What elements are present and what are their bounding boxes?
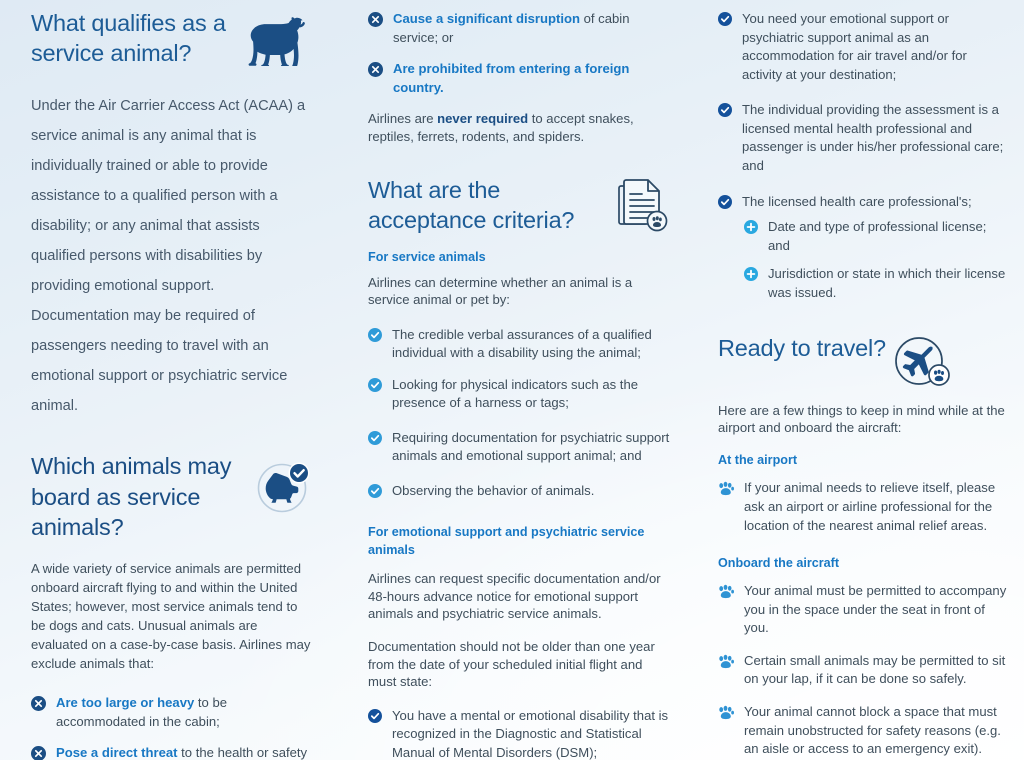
list-item: Cause a significant disruption of cabin … — [368, 10, 670, 47]
check-circle-dark-icon — [718, 103, 732, 117]
list-item: If your animal needs to relieve itself, … — [718, 479, 1010, 535]
ready-to-travel-title: Ready to travel? — [718, 333, 886, 363]
list-item: Observing the behavior of animals. — [368, 482, 670, 501]
list-item: Requiring documentation for psychiatric … — [368, 429, 670, 466]
page-title: What qualifies as a service animal? — [31, 8, 239, 69]
list-item: Certain small animals may be permitted t… — [718, 652, 1010, 689]
x-circle-icon — [31, 746, 46, 760]
subhead-for-emotional-support: For emotional support and psychiatric se… — [368, 523, 670, 560]
plus-circle-icon — [744, 220, 758, 234]
list-item: Your animal cannot block a space that mu… — [718, 703, 1010, 759]
professional-license-sub-list: Date and type of professional license; a… — [744, 218, 1010, 302]
list-item-text: Requiring documentation for psychiatric … — [392, 429, 670, 466]
list-item-text: The individual providing the assessment … — [742, 101, 1010, 175]
x-circle-icon — [31, 696, 46, 711]
ready-to-travel-heading-block: Ready to travel? — [718, 333, 1010, 390]
list-item-text: Pose a direct threat to the health or sa… — [56, 744, 313, 760]
check-circle-light-icon — [368, 378, 382, 392]
list-item-text: The licensed health care professional's; — [742, 193, 1010, 212]
which-animals-title: Which animals may board as service anima… — [31, 451, 249, 542]
airplane-paw-circle-icon — [892, 334, 956, 390]
list-item-text: Looking for physical indicators such as … — [392, 376, 670, 413]
documentation-requirements-list: You need your emotional support or psych… — [718, 10, 1010, 211]
service-animal-criteria-list: The credible verbal assurances of a qual… — [368, 326, 670, 501]
acceptance-criteria-title: What are the acceptance criteria? — [368, 175, 610, 236]
never-required-note: Airlines are never required to accept sn… — [368, 110, 670, 145]
acceptance-heading-block: What are the acceptance criteria? — [368, 175, 670, 236]
subhead-for-service-animals: For service animals — [368, 250, 670, 264]
list-item-text: If your animal needs to relieve itself, … — [744, 479, 1010, 535]
list-item: Date and type of professional license; a… — [744, 218, 1010, 255]
esa-documentation-list: You have a mental or emotional disabilit… — [368, 707, 670, 760]
paw-print-icon — [718, 481, 734, 496]
list-item-text: Your animal cannot block a space that mu… — [744, 703, 1010, 759]
list-item-text: Are prohibited from entering a foreign c… — [393, 60, 670, 97]
list-item: Are too large or heavy to be accommodate… — [31, 694, 313, 731]
ready-to-travel-intro: Here are a few things to keep in mind wh… — [718, 402, 1010, 438]
esa-paragraph-2: Documentation should not be older than o… — [368, 638, 670, 690]
infographic-page: What qualifies as a service animal? Unde… — [0, 0, 1024, 760]
list-item: You have a mental or emotional disabilit… — [368, 707, 670, 760]
check-circle-light-icon — [368, 328, 382, 342]
list-item-text: Observing the behavior of animals. — [392, 482, 670, 501]
subhead-onboard-the-aircraft: Onboard the aircraft — [718, 556, 1010, 570]
list-item: Are prohibited from entering a foreign c… — [368, 60, 670, 97]
document-paw-icon — [616, 177, 670, 233]
list-item-text: Date and type of professional license; a… — [768, 218, 1010, 255]
esa-paragraph-1: Airlines can request specific documentat… — [368, 570, 670, 622]
paw-print-icon — [718, 584, 734, 599]
paw-print-icon — [718, 654, 734, 669]
left-column: What qualifies as a service animal? Unde… — [0, 0, 355, 760]
x-circle-icon — [368, 12, 383, 27]
list-item: Your animal must be permitted to accompa… — [718, 582, 1010, 638]
list-item-text: You need your emotional support or psych… — [742, 10, 1010, 84]
list-item: Jurisdiction or state in which their lic… — [744, 265, 1010, 302]
list-item-text: Are too large or heavy to be accommodate… — [56, 694, 313, 731]
list-item-emphasis: Are prohibited from entering a foreign c… — [393, 61, 629, 95]
plus-circle-icon — [744, 267, 758, 281]
list-item: The licensed health care professional's; — [718, 193, 1010, 212]
check-circle-dark-icon — [718, 195, 732, 209]
right-column: You need your emotional support or psych… — [710, 0, 1024, 760]
service-animals-intro: Airlines can determine whether an animal… — [368, 274, 670, 309]
note-emphasis: never required — [437, 111, 528, 126]
list-item-text: Cause a significant disruption of cabin … — [393, 10, 670, 47]
list-item-emphasis: Cause a significant disruption — [393, 11, 580, 26]
list-item: Looking for physical indicators such as … — [368, 376, 670, 413]
list-item-emphasis: Are too large or heavy — [56, 695, 194, 710]
dog-silhouette-icon — [245, 14, 313, 66]
check-circle-light-icon — [368, 484, 382, 498]
check-circle-dark-icon — [718, 12, 732, 26]
exclusion-bullet-list-continued: Cause a significant disruption of cabin … — [368, 10, 670, 97]
check-circle-light-icon — [368, 431, 382, 445]
list-item: The credible verbal assurances of a qual… — [368, 326, 670, 363]
list-item-text: Certain small animals may be permitted t… — [744, 652, 1010, 689]
list-item: The individual providing the assessment … — [718, 101, 1010, 175]
onboard-tips-list: Your animal must be permitted to accompa… — [718, 582, 1010, 759]
exclusion-bullet-list-left: Are too large or heavy to be accommodate… — [31, 694, 313, 760]
subhead-at-the-airport: At the airport — [718, 453, 1010, 467]
list-item-text: Your animal must be permitted to accompa… — [744, 582, 1010, 638]
x-circle-icon — [368, 62, 383, 77]
list-item-text: You have a mental or emotional disabilit… — [392, 707, 670, 760]
list-item-text: The credible verbal assurances of a qual… — [392, 326, 670, 363]
which-animals-paragraph: A wide variety of service animals are pe… — [31, 560, 313, 674]
list-item: You need your emotional support or psych… — [718, 10, 1010, 84]
check-circle-dark-icon — [368, 709, 382, 723]
list-item: Pose a direct threat to the health or sa… — [31, 744, 313, 760]
note-pre: Airlines are — [368, 111, 437, 126]
airport-tips-list: If your animal needs to relieve itself, … — [718, 479, 1010, 535]
dog-head-check-badge-icon — [255, 457, 313, 515]
qualifies-heading-block: What qualifies as a service animal? — [31, 8, 313, 69]
list-item-emphasis: Pose a direct threat — [56, 745, 178, 760]
middle-column: Cause a significant disruption of cabin … — [355, 0, 710, 760]
which-animals-heading-block: Which animals may board as service anima… — [31, 451, 313, 542]
list-item-text: Jurisdiction or state in which their lic… — [768, 265, 1010, 302]
qualifies-paragraph: Under the Air Carrier Access Act (ACAA) … — [31, 91, 313, 422]
paw-print-icon — [718, 705, 734, 720]
